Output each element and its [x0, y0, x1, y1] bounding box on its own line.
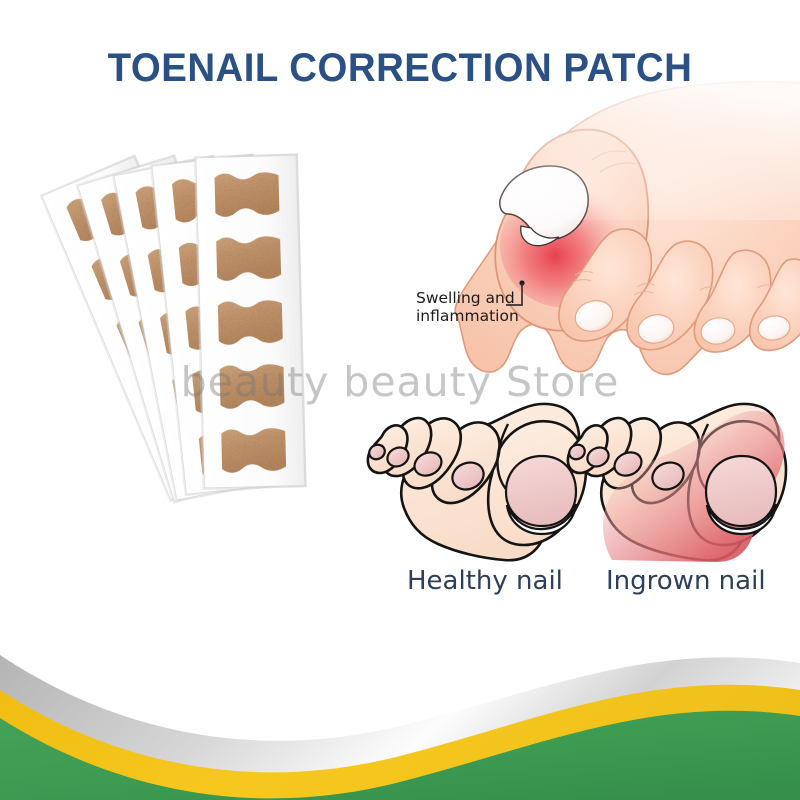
- decorative-wave-banner: [0, 0, 800, 800]
- product-marketing-image: Swelling and inflammation: [0, 0, 800, 800]
- page-title: TOENAIL CORRECTION PATCH: [16, 46, 784, 91]
